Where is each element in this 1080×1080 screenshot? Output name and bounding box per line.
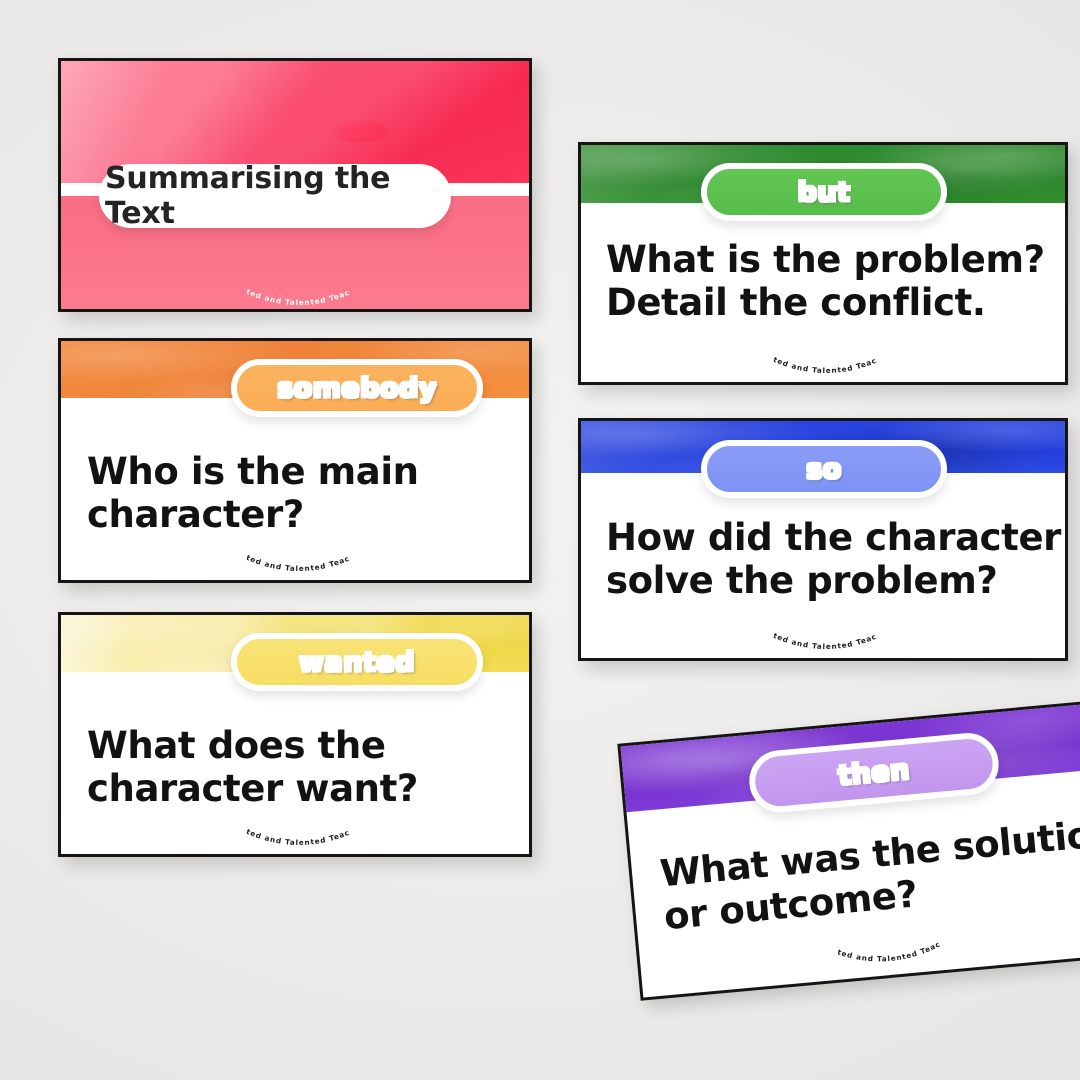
pill-label-wanted: wanted <box>299 647 415 678</box>
watermark-text: Gifted and Talented Teacher <box>766 627 878 651</box>
svg-text:Gifted and Talented Teacher: Gifted and Talented Teacher <box>239 549 351 573</box>
pill-label-then: then <box>837 754 911 791</box>
watermark-text: Gifted and Talented Teacher <box>239 823 351 847</box>
svg-text:Gifted and Talented Teacher: Gifted and Talented Teacher <box>766 351 878 375</box>
watermark-gifted-and-talented-teacher: Gifted and Talented Teacher <box>766 627 886 661</box>
title-pill: Summarising the Text <box>99 164 451 228</box>
poster-canvas: Summarising the Text Gifted and Talented… <box>0 0 1080 1080</box>
watermark-text: Gifted and Talented Teacher <box>766 351 878 375</box>
question-text-wanted: What does the character want? <box>87 725 507 811</box>
card-summarising-the-text[interactable]: Summarising the Text Gifted and Talented… <box>58 58 532 312</box>
question-text-but: What is the problem? Detail the conflict… <box>606 239 1056 325</box>
svg-text:Gifted and Talented Teacher: Gifted and Talented Teacher <box>766 627 878 651</box>
svg-text:Gifted and Talented Teacher: Gifted and Talented Teacher <box>829 934 943 969</box>
pill-label-somebody: somebody <box>277 373 437 404</box>
card-then[interactable]: then What was the solution or outcome? G… <box>617 701 1080 1001</box>
card-so[interactable]: so How did the character solve the probl… <box>578 418 1068 661</box>
pill-so: so <box>701 440 947 498</box>
pill-but: but <box>701 163 947 221</box>
question-text-somebody: Who is the main character? <box>87 451 507 537</box>
pill-label-so: so <box>806 454 842 485</box>
title-pill-label: Summarising the Text <box>105 161 445 231</box>
card-somebody[interactable]: somebody Who is the main character? Gift… <box>58 338 532 583</box>
question-text-so: How did the character solve the problem? <box>606 517 1061 603</box>
pill-label-but: but <box>798 177 851 208</box>
watermark-gifted-and-talented-teacher: Gifted and Talented Teacher <box>239 823 359 857</box>
watermark-text: Gifted and Talented Teacher <box>239 549 351 573</box>
card-wanted[interactable]: wanted What does the character want? Gif… <box>58 612 532 857</box>
watermark-gifted-and-talented-teacher: Gifted and Talented Teacher <box>766 351 886 385</box>
watermark-gifted-and-talented-teacher: Gifted and Talented Teacher <box>829 934 952 979</box>
pill-wanted: wanted <box>231 633 483 691</box>
pill-somebody: somebody <box>231 359 483 417</box>
svg-text:Gifted and Talented Teacher: Gifted and Talented Teacher <box>239 823 351 847</box>
watermark-gifted-and-talented-teacher: Gifted and Talented Teacher <box>239 549 359 583</box>
question-text-then: What was the solution or outcome? <box>658 812 1080 939</box>
card-but[interactable]: but What is the problem? Detail the conf… <box>578 142 1068 385</box>
watermark-text: Gifted and Talented Teacher <box>829 934 943 969</box>
